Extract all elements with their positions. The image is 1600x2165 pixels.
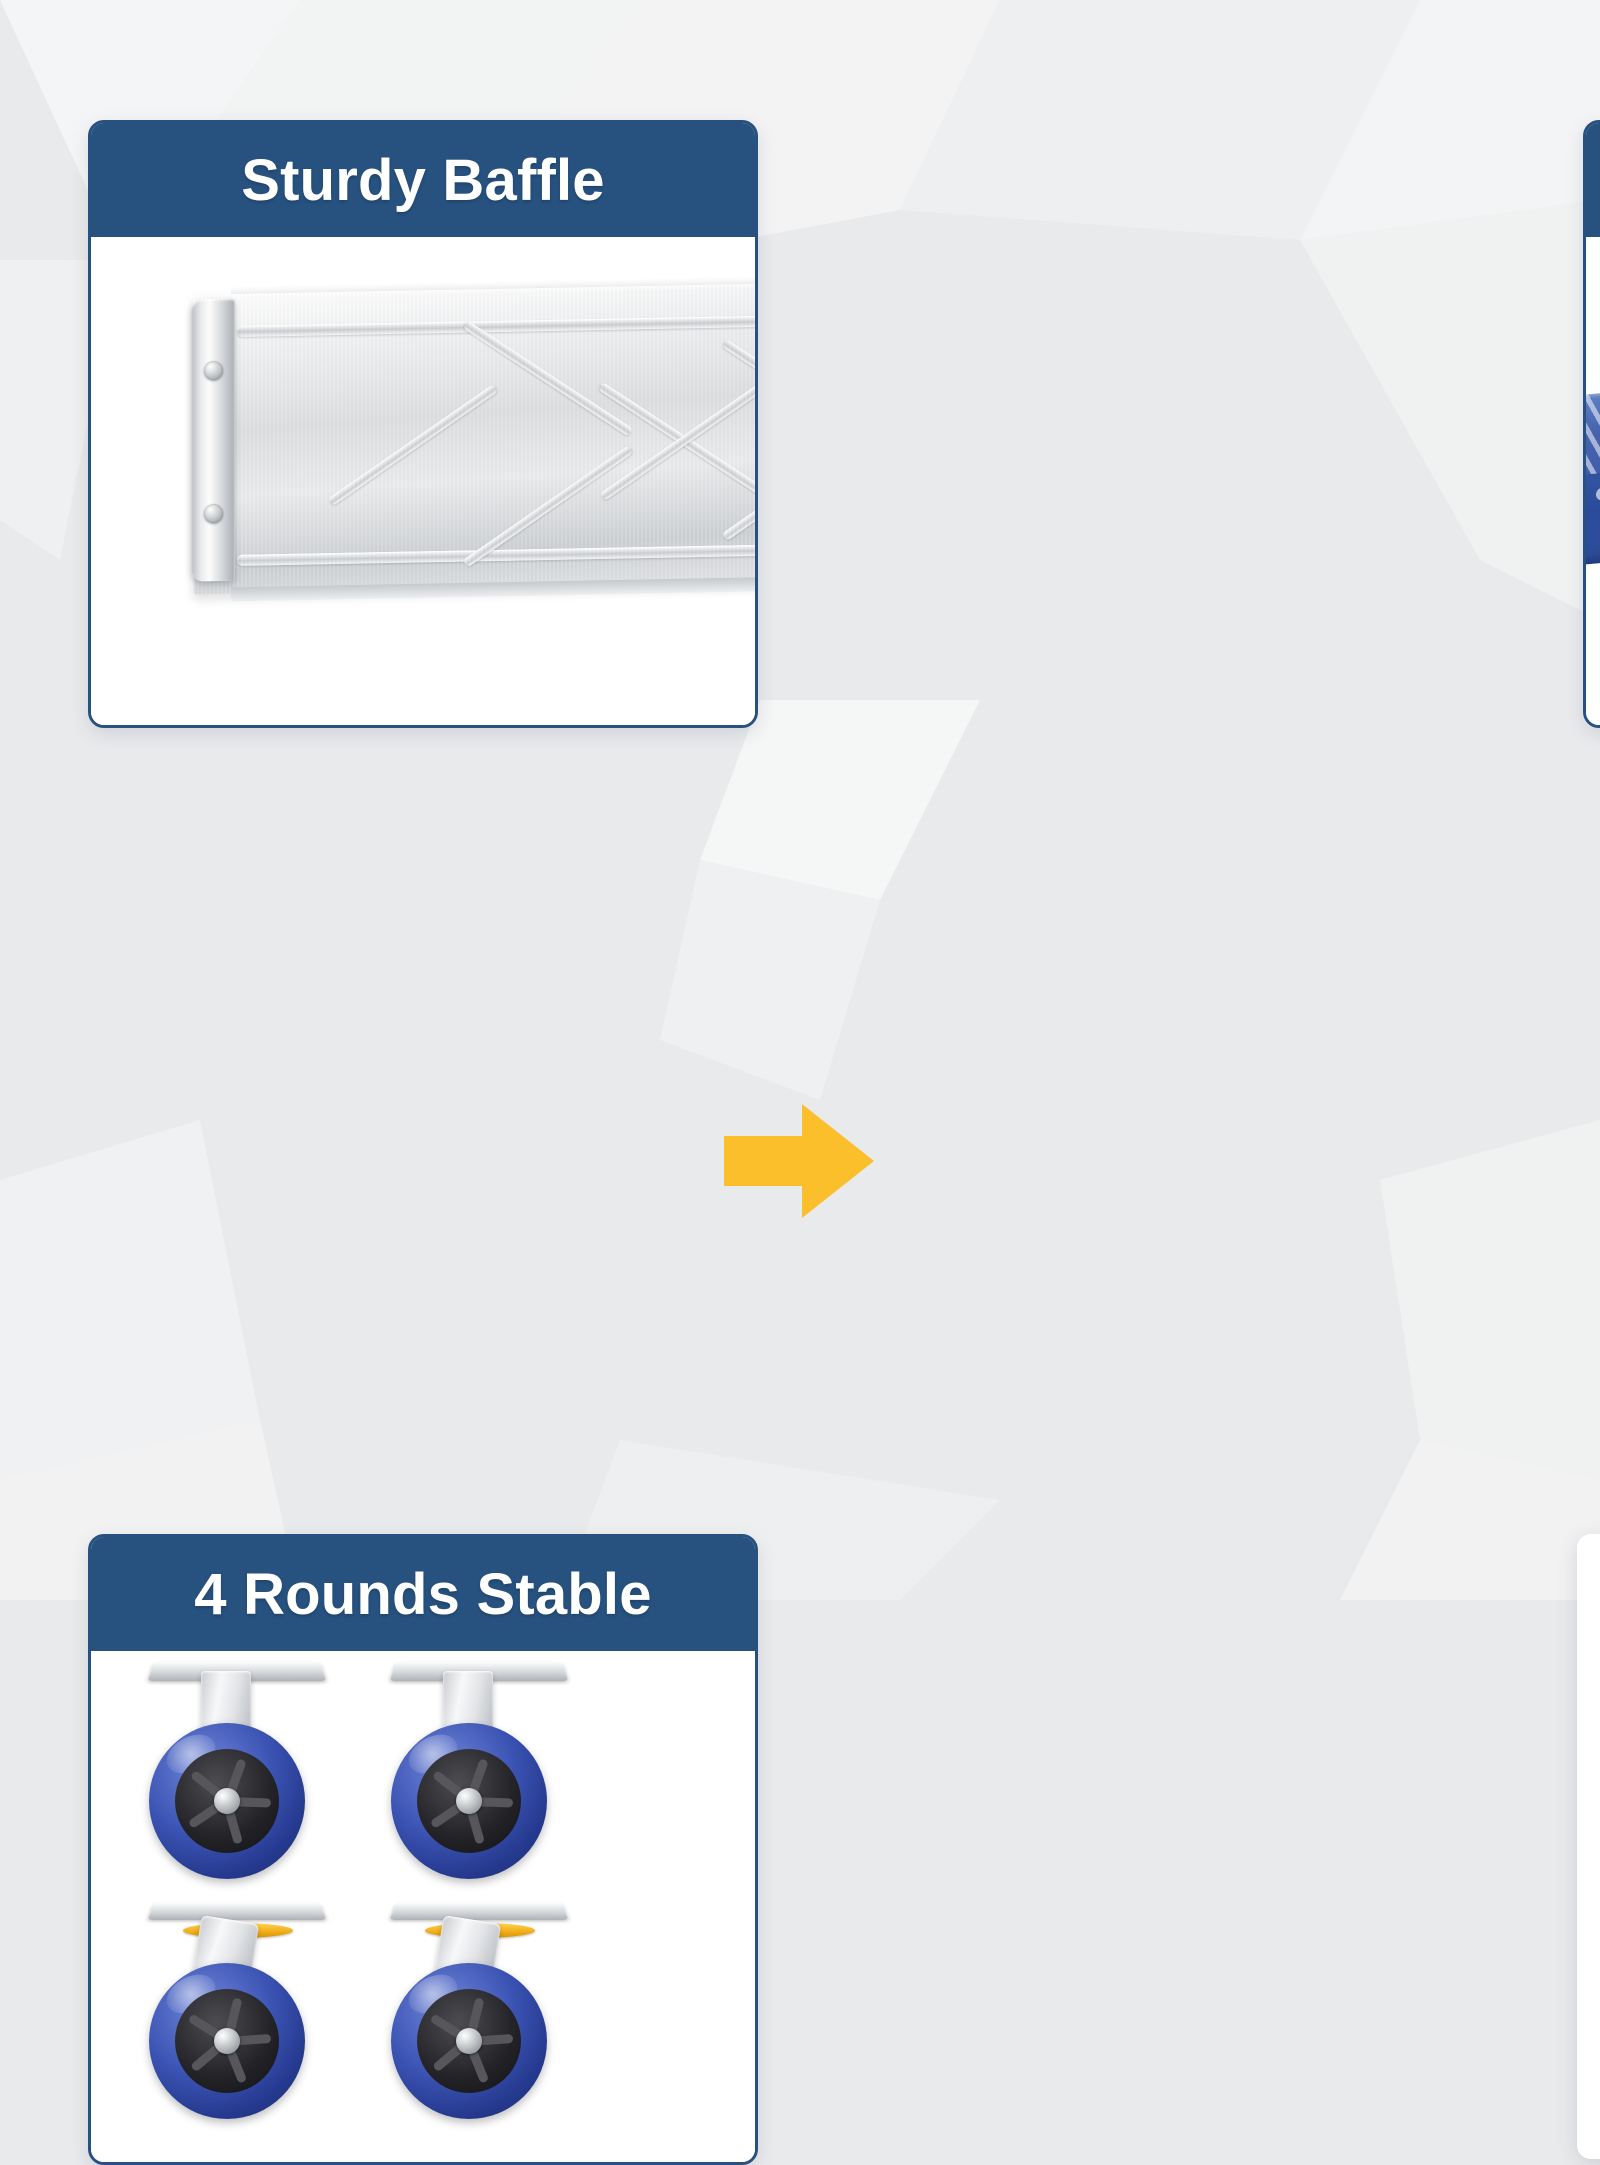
casters-photo	[91, 1651, 755, 2162]
panel-sturdy-baffle[interactable]: Sturdy Baffle	[88, 120, 758, 728]
panel-title-pu-wheel: PU Wheel	[1577, 1534, 1600, 1664]
caster-mount-plate	[147, 1903, 327, 1920]
cell-top-left: Sturdy Baffle	[0, 0, 755, 722]
baffle-photo	[91, 237, 755, 725]
baffle-rivet	[204, 361, 223, 380]
caster-tire	[391, 1723, 547, 1879]
caster-swivel-1	[131, 1897, 343, 2129]
panel-thickened-board[interactable]: Thickened board	[1583, 120, 1600, 728]
caster-axle-bolt	[214, 1788, 240, 1814]
caster-swivel-2	[373, 1897, 585, 2129]
baffle-rivet	[204, 504, 223, 523]
feature-grid: Sturdy Baffle	[0, 0, 1600, 1600]
baffle-plate	[193, 283, 755, 595]
cell-bottom-left: 4 Rounds Stable	[0, 722, 755, 1600]
cell-bottom-right: PU Wheel	[755, 722, 1600, 1600]
caster-tire	[149, 1723, 305, 1879]
board-photo	[1586, 237, 1600, 725]
pu-wheel-photo: 4in	[1577, 1664, 1600, 2159]
caster-axle-bolt	[456, 1788, 482, 1814]
panel-title-four-rounds-stable: 4 Rounds Stable	[91, 1537, 755, 1651]
caster-tire	[391, 1963, 547, 2119]
panel-title-thickened-board: Thickened board	[1586, 123, 1600, 237]
caster-axle-bolt	[456, 2028, 482, 2054]
panel-title-sturdy-baffle: Sturdy Baffle	[91, 123, 755, 237]
panel-four-rounds-stable[interactable]: 4 Rounds Stable	[88, 1534, 758, 2165]
right-arrow-icon	[724, 1098, 874, 1224]
panel-photo-thickened-board	[1586, 237, 1600, 725]
panel-pu-wheel[interactable]: PU Wheel	[1577, 1534, 1600, 2159]
panel-photo-four-rounds-stable	[91, 1651, 755, 2162]
caster-rigid-2	[373, 1657, 585, 1889]
caster-axle-bolt	[214, 2028, 240, 2054]
panel-photo-pu-wheel: 4in	[1577, 1664, 1600, 2159]
caster-mount-plate	[389, 1903, 569, 1920]
cell-top-right: Thickened board	[755, 0, 1600, 722]
baffle-hinge-bracket	[191, 299, 235, 582]
baffle-groove-bottom	[237, 544, 755, 566]
caster-tire	[149, 1963, 305, 2119]
caster-rigid-1	[131, 1657, 343, 1889]
panel-photo-sturdy-baffle	[91, 237, 755, 725]
baffle-groove-top	[237, 315, 755, 337]
